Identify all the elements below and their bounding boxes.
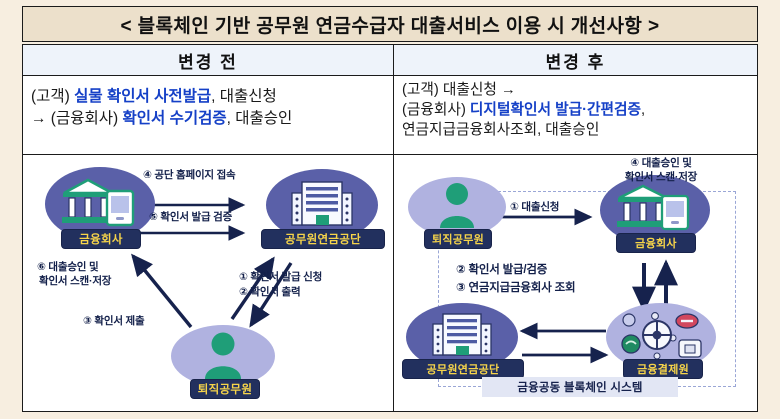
after-l2-plain1: (금융회사) [402, 102, 470, 118]
step-4-label-before: ④ 공단 홈페이지 접속 [143, 169, 236, 182]
node-clearing-after: 금융결제원 [606, 303, 716, 387]
node-bank-after: 금융회사 [600, 175, 710, 259]
node-retiree-after-label: 퇴직공무원 [424, 229, 492, 249]
column-header-after: 변경 후 [394, 45, 757, 75]
step-2-label-before: ② 확인서 출력 [239, 286, 300, 299]
column-header-before: 변경 전 [23, 45, 394, 75]
node-bank-after-label: 금융회사 [616, 233, 696, 253]
table-header-row: 변경 전 변경 후 [23, 45, 757, 76]
after-description-line3: 연금지급금융회사조회, 대출승인 [402, 121, 750, 141]
pension-building-icon [290, 179, 354, 229]
comparison-table: 변경 전 변경 후 (고객) 실물 확인서 사전발급, 대출신청 → (금융회사… [22, 44, 758, 412]
table-diagram-row: 금융회사 [23, 155, 757, 411]
diagram-after: 퇴직공무원 금융회사 [394, 155, 757, 411]
bank-building-icon [61, 177, 139, 229]
node-bank-before: 금융회사 [45, 167, 155, 255]
bank-building-icon [616, 183, 694, 233]
step-6-label-before-line2: 확인서 스캔·저장 [39, 275, 111, 288]
person-icon [436, 182, 478, 228]
node-clearing-after-label: 금융결제원 [623, 359, 703, 379]
step-1-label-before: ① 확인서 발급 신청 [239, 271, 322, 284]
step-6-label-before-line1: ⑥ 대출승인 및 [37, 261, 98, 274]
before-l1-highlight: 실물 확인서 사전발급 [74, 88, 211, 105]
node-pension-before: 공무원연금공단 [261, 169, 383, 257]
after-l2-highlight: 디지털확인서 발급·간편검증 [470, 102, 641, 118]
title-bar: < 블록체인 기반 공무원 연금수급자 대출서비스 이용 시 개선사항 > [22, 6, 758, 42]
after-description-line1: (고객) 대출신청 → [402, 81, 750, 101]
page-title: < 블록체인 기반 공무원 연금수급자 대출서비스 이용 시 개선사항 > [121, 11, 660, 38]
after-description-line2: (금융회사) 디지털확인서 발급·간편검증, [402, 101, 750, 121]
before-l2-highlight: 확인서 수기검증 [122, 110, 226, 127]
after-description: (고객) 대출신청 → (금융회사) 디지털확인서 발급·간편검증, 연금지급금… [394, 76, 757, 154]
diagram-before: 금융회사 [23, 155, 394, 411]
step-4-label-after-line2: 확인서 스캔·저장 [586, 171, 736, 184]
network-hub-icon [613, 308, 709, 366]
after-l2-plain2: , [641, 102, 645, 118]
blockchain-system-label: 금융공동 블록체인 시스템 [482, 377, 678, 397]
step-3-label-after: ③ 연금지급금융회사 조회 [456, 281, 575, 295]
node-retiree-before-label: 퇴직공무원 [190, 379, 260, 399]
node-bank-before-label: 금융회사 [61, 229, 141, 249]
before-l2-plain1: → (금융회사) [31, 110, 122, 127]
step-1-label-after: ① 대출신청 [510, 201, 559, 214]
before-l2-plain2: , 대출승인 [227, 110, 293, 127]
step-3-label-before: ③ 확인서 제출 [83, 315, 144, 328]
before-description: (고객) 실물 확인서 사전발급, 대출신청 → (금융회사) 확인서 수기검증… [23, 76, 394, 154]
table-text-row: (고객) 실물 확인서 사전발급, 대출신청 → (금융회사) 확인서 수기검증… [23, 76, 757, 155]
node-retiree-before: 퇴직공무원 [171, 325, 275, 405]
before-l1-plain2: , 대출신청 [211, 88, 277, 105]
node-pension-after-label: 공무원연금공단 [402, 359, 524, 379]
before-description-line2: → (금융회사) 확인서 수기검증, 대출승인 [31, 108, 386, 130]
before-description-line1: (고객) 실물 확인서 사전발급, 대출신청 [31, 86, 386, 108]
person-icon [201, 331, 245, 379]
pension-building-icon [431, 311, 493, 359]
before-l1-plain1: (고객) [31, 88, 74, 105]
node-pension-before-label: 공무원연금공단 [261, 229, 385, 249]
step-5-label-before: ⑤ 확인서 발급 검증 [149, 211, 232, 224]
infographic-page: < 블록체인 기반 공무원 연금수급자 대출서비스 이용 시 개선사항 > 변경… [0, 0, 780, 419]
step-2-label-after: ② 확인서 발급/검증 [456, 263, 547, 277]
step-4-label-after-line1: ④ 대출승인 및 [586, 157, 736, 170]
node-retiree-after: 퇴직공무원 [408, 177, 506, 255]
node-pension-after: 공무원연금공단 [402, 303, 522, 387]
